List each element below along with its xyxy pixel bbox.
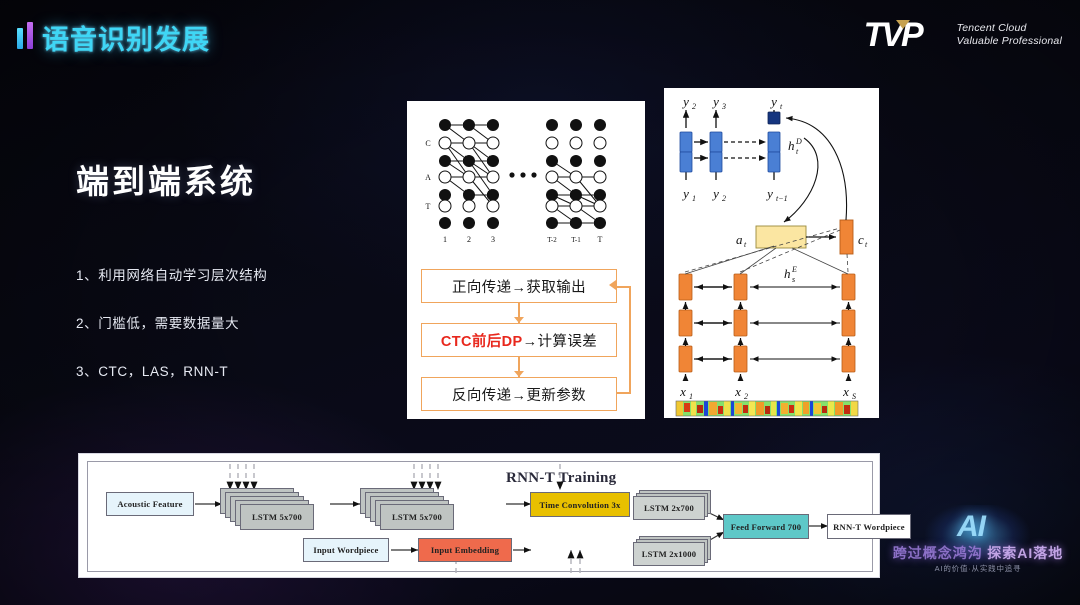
svg-text:S: S	[852, 392, 856, 401]
page-title: 语音识别发展	[42, 18, 210, 57]
node-acoustic-feature: Acoustic Feature	[106, 492, 194, 516]
svg-text:y: y	[711, 94, 719, 109]
node-lstm-2x700: LSTM 2x700	[633, 490, 717, 522]
flow-feedback-loop	[617, 286, 631, 394]
svg-text:c: c	[858, 232, 864, 247]
flow-step-backward-pass: 反向传递→更新参数	[421, 377, 617, 411]
rnnt-training-panel: RNN-T Training	[78, 453, 880, 578]
section-heading: 端到端系统	[76, 155, 256, 203]
svg-text:1: 1	[689, 392, 693, 401]
svg-text:x: x	[734, 384, 741, 399]
svg-text:h: h	[788, 138, 795, 153]
node-lstm-5x700-b: LSTM 5x700	[360, 488, 456, 530]
ctc-trellis-figure: CAT 123 T-2T-1T	[407, 101, 645, 261]
svg-text:E: E	[791, 265, 797, 274]
node-lstm-2x700-label: LSTM 2x700	[633, 496, 705, 520]
tvp-logo-line1: Tencent Cloud	[957, 22, 1062, 35]
node-feed-forward: Feed Forward 700	[723, 514, 809, 539]
tvp-logo-line2: Valuable Professional	[957, 35, 1062, 48]
watermark-subtitle: AI的价值·从实践中追寻	[888, 563, 1068, 574]
tvp-logomark: TVP	[864, 19, 948, 51]
list-item: 3、CTC，LAS，RNN-T	[76, 360, 406, 380]
list-item: 1、利用网络自动学习层次结构	[76, 264, 406, 284]
spectrogram-strip	[676, 401, 858, 416]
svg-text:C: C	[425, 139, 430, 148]
flow-step-ctc-dp: CTC前后DP→计算误差	[421, 323, 617, 357]
svg-text:1: 1	[692, 194, 696, 203]
ctc-training-flow: 正向传递→获取输出 CTC前后DP→计算误差 反向传递→更新参数	[421, 267, 633, 413]
watermark-headline-part2: 探索AI落地	[987, 545, 1063, 561]
node-lstm-5x700-a-label: LSTM 5x700	[240, 504, 314, 530]
ctc-diagram-panel: CAT 123 T-2T-1T 正向传递→获取输出 CTC前后DP→计算误差 反…	[407, 101, 645, 419]
tvp-logo: TVP Tencent Cloud Valuable Professional	[864, 19, 1062, 51]
flow-feedback-arrow-icon	[609, 280, 616, 290]
node-input-embedding: Input Embedding	[418, 538, 512, 562]
svg-text:x: x	[842, 384, 849, 399]
tvp-logo-subtitle: Tencent Cloud Valuable Professional	[957, 22, 1062, 48]
svg-text:t: t	[744, 240, 747, 249]
slide-header: 语音识别发展 TVP Tencent Cloud Valuable Profes…	[0, 0, 1080, 70]
tvp-triangle-accent	[896, 20, 910, 29]
svg-text:t: t	[865, 240, 868, 249]
node-lstm-5x700-a: LSTM 5x700	[220, 488, 316, 530]
svg-text:A: A	[425, 173, 431, 182]
svg-text:3: 3	[721, 102, 726, 111]
svg-text:2: 2	[692, 102, 696, 111]
svg-text:2: 2	[722, 194, 726, 203]
svg-text:s: s	[792, 275, 795, 284]
svg-text:t−1: t−1	[776, 194, 788, 203]
svg-text:t: t	[796, 147, 799, 156]
svg-text:T: T	[598, 235, 603, 244]
svg-text:3: 3	[491, 235, 495, 244]
svg-text:x: x	[679, 384, 686, 399]
event-watermark: AI 跨过概念鸿沟 探索AI落地 AI的价值·从实践中追寻	[885, 505, 1070, 587]
svg-text:y: y	[681, 94, 689, 109]
attention-encoder-decoder-panel: yyy yyy 23t 12t−1 h D t at ct	[664, 88, 879, 418]
svg-text:1: 1	[443, 235, 447, 244]
svg-text:a: a	[736, 232, 743, 247]
node-lstm-5x700-b-label: LSTM 5x700	[380, 504, 454, 530]
bullet-list: 1、利用网络自动学习层次结构 2、门槛低，需要数据量大 3、CTC，LAS，RN…	[76, 264, 406, 408]
flow-step-ctc-dp-emphasis: CTC前后DP	[441, 330, 523, 351]
node-time-convolution: Time Convolution 3x	[530, 492, 630, 517]
watermark-ai-text: AI	[957, 510, 985, 544]
svg-text:h: h	[784, 266, 791, 281]
flow-step-ctc-dp-rest: →计算误差	[523, 330, 598, 351]
rnnt-inner-frame: RNN-T Training	[87, 461, 873, 572]
svg-text:2: 2	[744, 392, 748, 401]
node-lstm-2x1000: LSTM 2x1000	[633, 536, 717, 568]
svg-text:D: D	[795, 137, 802, 146]
svg-text:y: y	[681, 186, 689, 201]
svg-text:t: t	[780, 102, 783, 111]
list-item: 2、门槛低，需要数据量大	[76, 312, 406, 332]
watermark-headline-part1: 跨过概念鸿沟	[893, 545, 983, 561]
svg-text:T: T	[426, 202, 431, 211]
node-lstm-2x1000-label: LSTM 2x1000	[633, 542, 705, 566]
svg-text:y: y	[769, 94, 777, 109]
svg-text:T-2: T-2	[547, 236, 557, 244]
las-diagram-figure: yyy yyy 23t 12t−1 h D t at ct	[664, 88, 879, 418]
svg-text:y: y	[765, 186, 773, 201]
svg-text:2: 2	[467, 235, 471, 244]
svg-text:y: y	[711, 186, 719, 201]
bar-chart-icon	[17, 22, 37, 49]
watermark-headline: 跨过概念鸿沟 探索AI落地	[888, 543, 1068, 563]
node-input-wordpiece: Input Wordpiece	[303, 538, 389, 562]
flow-step-forward-pass: 正向传递→获取输出	[421, 269, 617, 303]
svg-text:T-1: T-1	[571, 236, 581, 244]
